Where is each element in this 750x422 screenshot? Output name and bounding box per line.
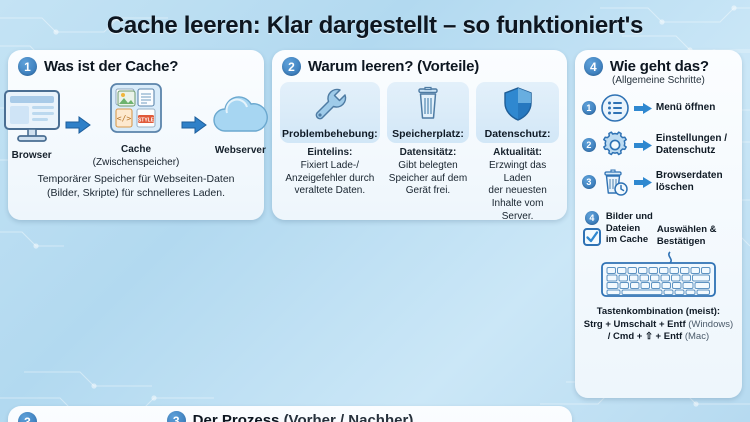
keyboard-combo-windows-os: (Windows) xyxy=(688,319,733,330)
benefit-line-1-0: Gibt belegten xyxy=(387,160,470,173)
how-step-4-check-group: 4 xyxy=(582,211,602,247)
keyboard-section: Tastenkombination (meist): Strg + Umscha… xyxy=(582,251,735,343)
card-what-is-cache: 1 Was ist der Cache? xyxy=(8,50,264,220)
monitor-icon xyxy=(1,88,63,144)
how-step-4-left-text: Bilder und Dateien im Cache xyxy=(606,211,653,246)
trash-icon xyxy=(408,86,448,122)
card-how-subtitle: (Allgemeine Schritte) xyxy=(582,75,735,86)
how-step-1-line1: Menü öffnen xyxy=(656,102,715,114)
benefit-line-0-1: Anzeigefehler durch xyxy=(280,173,380,186)
svg-text:</>: </> xyxy=(117,114,132,123)
card-process-title: Der Prozess (Vorher / Nachher) xyxy=(193,412,414,422)
arrow-right-icon-step3 xyxy=(633,176,653,189)
flow-label-browser: Browser xyxy=(1,150,63,162)
trash-clock-icon xyxy=(600,167,630,197)
benefit-privacy: Datenschutz: Aktualität: Erzwingt das La… xyxy=(476,82,559,224)
benefit-line-0-0: Fixiert Lade-/ xyxy=(280,160,380,173)
card-how-to: 4 Wie geht das? (Allgemeine Schritte) 1 xyxy=(575,50,742,398)
benefit-troubleshooting: Problembehebung: Eintelins: Fixiert Lade… xyxy=(280,82,380,224)
how-step-4-left-line1: Bilder und xyxy=(606,211,653,223)
benefits-columns: Problembehebung: Eintelins: Fixiert Lade… xyxy=(272,78,567,224)
card-what-note-line1: Temporärer Speicher für Webseiten-Daten xyxy=(16,172,256,186)
keyboard-caption-title: Tastenkombination (meist): xyxy=(582,306,735,318)
checkbox-checked-icon[interactable] xyxy=(582,227,602,247)
how-step-2-number: 2 xyxy=(582,138,596,152)
card-what-note: Temporärer Speicher für Webseiten-Daten … xyxy=(8,172,264,200)
benefit-text-troubleshooting: Eintelins: Fixiert Lade-/ Anzeigefehler … xyxy=(280,147,380,198)
how-step-4-number: 4 xyxy=(585,211,599,225)
card-how-title: Wie geht das? xyxy=(610,58,709,75)
column-right: 4 Wie geht das? (Allgemeine Schritte) 1 xyxy=(575,50,742,398)
card-what-note-line2: (Bilder, Skripte) für schnelleres Laden. xyxy=(16,186,256,200)
benefit-heading-troubleshooting: Eintelins: xyxy=(307,147,352,158)
benefit-text-storage: Datensitätz: Gibt belegten Speicher auf … xyxy=(387,147,470,198)
how-step-3-line1: Browserdaten xyxy=(656,170,723,182)
how-step-1-number: 1 xyxy=(582,101,596,115)
benefit-heading-privacy: Aktualität: xyxy=(493,147,542,158)
card-process-title-muted: (Vorher / Nachher) xyxy=(284,412,414,422)
benefit-line-1-2: Gerät frei. xyxy=(387,185,470,198)
flow-label-cache: Cache xyxy=(93,144,180,156)
benefit-label-troubleshooting: Problembehebung: xyxy=(282,128,378,140)
how-step-2[interactable]: 2 Einstellungen / Datenschutz xyxy=(582,130,735,160)
arrow-right-icon-2 xyxy=(181,116,207,134)
flow-label-cache-sub: (Zwischenspeicher) xyxy=(93,157,180,169)
keyboard-combo-mac: / Cmd + ⇧ + Entf xyxy=(608,331,682,342)
flow-item-browser: Browser xyxy=(1,88,63,162)
keyboard-combo-mac-os: (Mac) xyxy=(685,331,709,342)
card-why-badge: 2 xyxy=(282,57,301,76)
card-how-badge: 4 xyxy=(584,57,603,76)
card-why-header: 2 Warum leeren? (Vorteile) xyxy=(272,50,567,78)
card-how-header: 4 Wie geht das? xyxy=(582,50,735,76)
benefit-heading-storage: Datensitätz: xyxy=(400,147,457,158)
how-step-2-label: Einstellungen / Datenschutz xyxy=(656,133,727,157)
menu-list-icon xyxy=(600,93,630,123)
how-step-2-line1: Einstellungen / xyxy=(656,133,727,145)
column-left: 1 Was ist der Cache? xyxy=(8,50,264,220)
how-step-3-label: Browserdaten löschen xyxy=(656,170,723,194)
benefit-line-2-2: Inhalte vom Server. xyxy=(476,198,559,224)
shield-icon xyxy=(498,86,538,122)
wrench-icon xyxy=(310,86,350,122)
svg-text:STYLE: STYLE xyxy=(138,118,155,124)
how-step-3-line2: löschen xyxy=(656,182,723,194)
how-step-4-right-line2: Bestätigen xyxy=(657,236,717,248)
how-step-4-right-text: Auswählen & Bestätigen xyxy=(657,224,717,247)
cache-files-icon: </> STYLE xyxy=(105,82,167,138)
how-step-1[interactable]: 1 xyxy=(582,93,735,123)
gear-icon xyxy=(600,130,630,160)
how-step-4-left-line3: im Cache xyxy=(606,234,653,246)
top-row: 1 Was ist der Cache? xyxy=(8,50,742,398)
keyboard-combo-windows: Strg + Umschalt + Entf xyxy=(584,319,686,330)
card-process-title-bold: Der Prozess xyxy=(193,412,280,422)
how-step-3[interactable]: 3 Browserdaten xyxy=(582,167,735,197)
card-what-title: Was ist der Cache? xyxy=(44,58,178,75)
arrow-right-icon xyxy=(65,116,91,134)
how-steps-list: 1 xyxy=(582,93,735,247)
card-what-badge: 1 xyxy=(18,57,37,76)
benefit-line-1-1: Speicher auf dem xyxy=(387,173,470,186)
benefit-line-2-0: Erzwingt das Laden xyxy=(476,160,559,186)
benefit-text-privacy: Aktualität: Erzwingt das Laden der neues… xyxy=(476,147,559,224)
benefit-label-storage: Speicherplatz: xyxy=(389,128,468,140)
arrow-right-icon-step2 xyxy=(633,139,653,152)
card-process-header: 3 Der Prozess (Vorher / Nachher) xyxy=(8,406,572,422)
infographic-page: Cache leeren: Klar dargestellt – so funk… xyxy=(0,0,750,422)
how-step-4-right-line1: Auswählen & xyxy=(657,224,717,236)
benefit-line-0-2: veraltete Daten. xyxy=(280,185,380,198)
cache-flow-diagram: Browser xyxy=(8,78,264,168)
how-step-4[interactable]: 4 Bilder und Dateien im Cache xyxy=(582,211,735,247)
column-middle: 2 Warum leeren? (Vorteile) Problembehebu… xyxy=(272,50,567,220)
benefit-label-privacy: Datenschutz: xyxy=(478,128,557,140)
cloud-icon xyxy=(209,93,271,139)
card-what-header: 1 Was ist der Cache? xyxy=(8,50,264,78)
card-why-title: Warum leeren? (Vorteile) xyxy=(308,58,479,75)
benefit-storage: Speicherplatz: Datensitätz: Gibt belegte… xyxy=(387,82,470,224)
arrow-right-icon-step1 xyxy=(633,102,653,115)
flow-item-cache: </> STYLE Cache (Zwischenspeicher) xyxy=(93,82,180,168)
keyboard-icon xyxy=(596,251,721,299)
page-title: Cache leeren: Klar dargestellt – so funk… xyxy=(8,0,742,50)
how-step-1-label: Menü öffnen xyxy=(656,102,715,114)
flow-item-webserver: Webserver xyxy=(209,93,271,157)
how-step-2-line2: Datenschutz xyxy=(656,145,727,157)
keyboard-caption: Tastenkombination (meist): Strg + Umscha… xyxy=(582,306,735,343)
benefit-tile-troubleshooting: Problembehebung: xyxy=(280,82,380,143)
how-step-3-number: 3 xyxy=(582,175,596,189)
card-process-inline-badge: 3 xyxy=(167,411,186,422)
how-step-4-left-line2: Dateien xyxy=(606,223,653,235)
benefit-tile-privacy: Datenschutz: xyxy=(476,82,559,143)
flow-label-webserver: Webserver xyxy=(209,145,271,157)
benefit-tile-storage: Speicherplatz: xyxy=(387,82,470,143)
card-process: 3 3 Der Prozess (Vorher / Nachher) VOR D… xyxy=(8,406,572,422)
benefit-line-2-1: der neuesten xyxy=(476,185,559,198)
card-why-clear: 2 Warum leeren? (Vorteile) Problembehebu… xyxy=(272,50,567,220)
